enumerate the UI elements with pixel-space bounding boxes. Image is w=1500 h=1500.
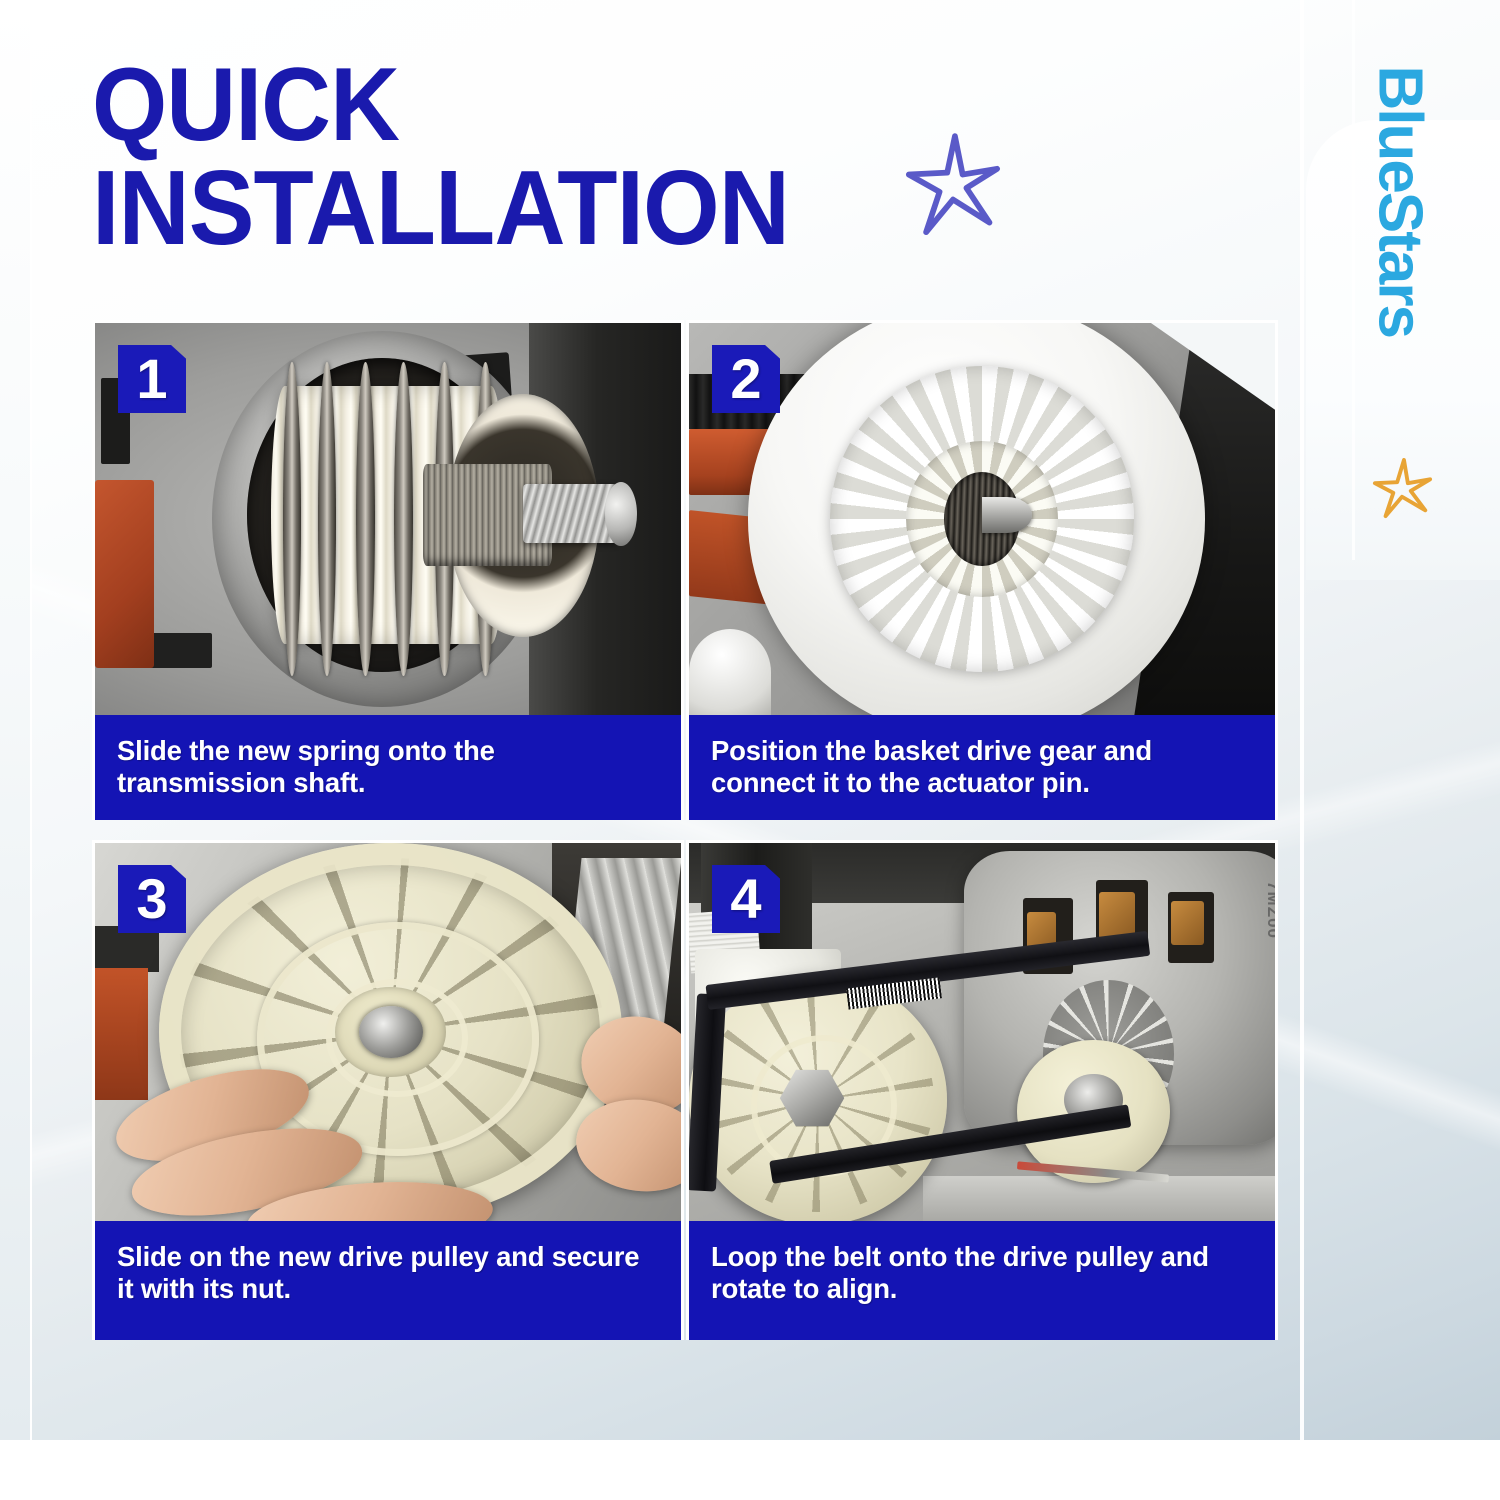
- photo2-actuator-pin: [982, 497, 1032, 532]
- photo4-motor-winding: [1171, 901, 1204, 945]
- step-4-caption-text: Loop the belt onto the drive pulley and …: [711, 1241, 1253, 1306]
- photo2-white-component: [689, 629, 771, 715]
- background-left-column: [0, 0, 32, 1440]
- step-4-badge: 4: [712, 865, 780, 933]
- step-card-4: 4 7MZ00: [686, 840, 1278, 1340]
- brand-name-part2: Stars: [1366, 192, 1435, 337]
- step-2-caption: Position the basket drive gear and conne…: [689, 715, 1275, 820]
- step-1-photo: 1: [95, 323, 681, 715]
- photo1-spring-coil: [283, 362, 302, 676]
- step-2-caption-text: Position the basket drive gear and conne…: [711, 735, 1253, 800]
- step-card-1: 1 Slide the new spring onto the transmis…: [92, 320, 684, 820]
- page-title-line-2: INSTALLATION: [92, 160, 948, 258]
- step-1-caption: Slide the new spring onto the transmissi…: [95, 715, 681, 820]
- step-4-caption: Loop the belt onto the drive pulley and …: [689, 1221, 1275, 1340]
- star-icon: [1372, 458, 1434, 520]
- photo1-threaded-stud: [523, 484, 617, 543]
- background-bottom-margin: [0, 1440, 1500, 1500]
- step-4-photo: 4 7MZ00: [689, 843, 1275, 1221]
- step-2-photo: 2: [689, 323, 1275, 715]
- step-1-caption-text: Slide the new spring onto the transmissi…: [117, 735, 659, 800]
- photo1-stud-tip: [605, 482, 637, 547]
- photo1-orange-connector: [95, 480, 154, 668]
- brand-name-part1: Blue: [1366, 66, 1435, 192]
- star-outline-icon: [905, 132, 1001, 244]
- step-2-badge: 2: [712, 345, 780, 413]
- step-3-photo: 3: [95, 843, 681, 1221]
- page-title-line-1: QUICK: [92, 58, 948, 154]
- photo4-motor-marking: 7MZ00: [1263, 881, 1275, 939]
- brand-logo-text: BlueStars: [1365, 66, 1436, 486]
- photo1-spring-coil: [394, 362, 413, 676]
- step-3-caption: Slide on the new drive pulley and secure…: [95, 1221, 681, 1340]
- step-card-3: 3 Slide on the new drive pulley and secu…: [92, 840, 684, 1340]
- page-title: QUICK INSTALLATION: [92, 58, 1012, 257]
- step-card-2: 2 Position the basket drive gear and con…: [686, 320, 1278, 820]
- step-3-caption-text: Slide on the new drive pulley and secure…: [117, 1241, 659, 1306]
- step-1-badge: 1: [118, 345, 186, 413]
- photo1-spring-coil: [356, 362, 375, 676]
- step-3-badge: 3: [118, 865, 186, 933]
- background-right-divider: [1300, 0, 1304, 1440]
- photo3-orange-connector: [95, 968, 148, 1100]
- infographic-root: QUICK INSTALLATION BlueStars 1: [0, 0, 1500, 1500]
